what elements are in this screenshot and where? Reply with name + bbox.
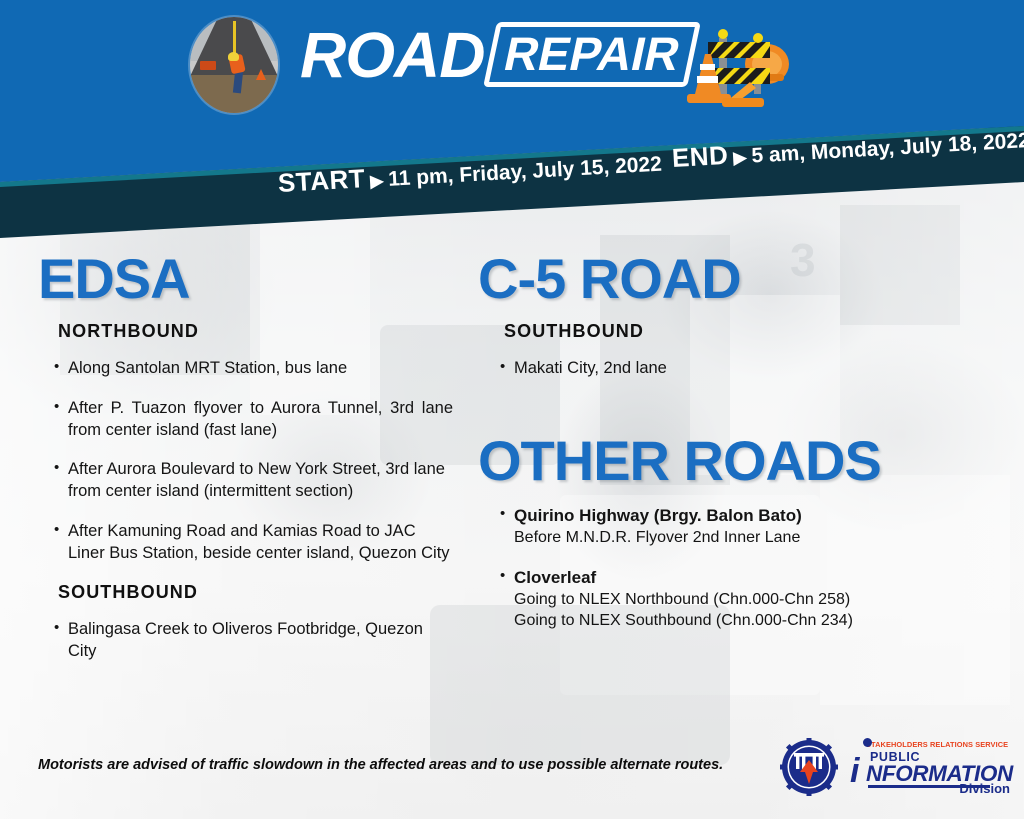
- c5-title: C-5 ROAD: [478, 250, 998, 307]
- edsa-northbound-label: NORTHBOUND: [58, 321, 453, 342]
- other-roads-list: Quirino Highway (Brgy. Balon Bato) Befor…: [478, 505, 998, 631]
- list-item-lead: Cloverleaf: [514, 567, 998, 589]
- list-item: After Aurora Boulevard to New York Stree…: [54, 459, 453, 503]
- pid-wordmark: STAKEHOLDERS RELATIONS SERVICE PUBLIC i …: [844, 738, 1012, 796]
- right-column: C-5 ROAD SOUTHBOUND Makati City, 2nd lan…: [478, 250, 998, 649]
- end-keyword: END: [671, 140, 729, 173]
- c5-list: Makati City, 2nd lane: [478, 358, 998, 380]
- list-item-note: Going to NLEX Southbound (Chn.000-Chn 23…: [514, 610, 998, 631]
- end-arrow-icon: ▶: [733, 148, 747, 168]
- list-item: Makati City, 2nd lane: [500, 358, 998, 380]
- edsa-southbound-list: Balingasa Creek to Oliveros Footbridge, …: [38, 619, 453, 663]
- logo-division: Division: [959, 781, 1010, 796]
- c5-southbound-label: SOUTHBOUND: [504, 321, 998, 342]
- wordmark-road: ROAD: [300, 23, 484, 87]
- edsa-northbound-list: Along Santolan MRT Station, bus lane Aft…: [38, 358, 453, 564]
- list-item: Along Santolan MRT Station, bus lane: [54, 358, 453, 380]
- wordmark-repair: REPAIR: [501, 30, 685, 77]
- list-item: After P. Tuazon flyover to Aurora Tunnel…: [54, 398, 453, 442]
- dpwh-gear-emblem-icon: [780, 738, 838, 796]
- logo-tagline: STAKEHOLDERS RELATIONS SERVICE: [866, 740, 1008, 749]
- other-roads-title: OTHER ROADS: [478, 432, 998, 489]
- road-repair-advisory-poster: 3 ROAD REPAIR: [0, 0, 1024, 819]
- list-item: After Kamuning Road and Kamias Road to J…: [54, 521, 453, 565]
- edsa-section: EDSA NORTHBOUND Along Santolan MRT Stati…: [38, 250, 453, 681]
- edsa-title: EDSA: [38, 250, 453, 307]
- list-item: Balingasa Creek to Oliveros Footbridge, …: [54, 619, 453, 663]
- list-item: Quirino Highway (Brgy. Balon Bato) Befor…: [500, 505, 998, 549]
- advisory-note: Motorists are advised of traffic slowdow…: [38, 757, 723, 773]
- traffic-cone-barrier-icon: [672, 20, 792, 112]
- start-keyword: START: [277, 163, 366, 198]
- edsa-southbound-label: SOUTHBOUND: [58, 582, 453, 603]
- list-item-note: Before M.N.D.R. Flyover 2nd Inner Lane: [514, 527, 998, 548]
- list-item-note: Going to NLEX Northbound (Chn.000-Chn 25…: [514, 589, 998, 610]
- road-repair-wordmark: ROAD REPAIR: [300, 22, 695, 87]
- list-item: Cloverleaf Going to NLEX Northbound (Chn…: [500, 567, 998, 632]
- agency-logo: STAKEHOLDERS RELATIONS SERVICE PUBLIC i …: [780, 736, 1012, 798]
- logo-initial: i: [850, 754, 859, 788]
- list-item-lead: Quirino Highway (Brgy. Balon Bato): [514, 505, 998, 527]
- logo-dot-icon: [863, 738, 872, 747]
- start-arrow-icon: ▶: [370, 171, 384, 191]
- road-worker-badge-icon: [190, 17, 278, 113]
- wordmark-repair-box: REPAIR: [484, 22, 702, 87]
